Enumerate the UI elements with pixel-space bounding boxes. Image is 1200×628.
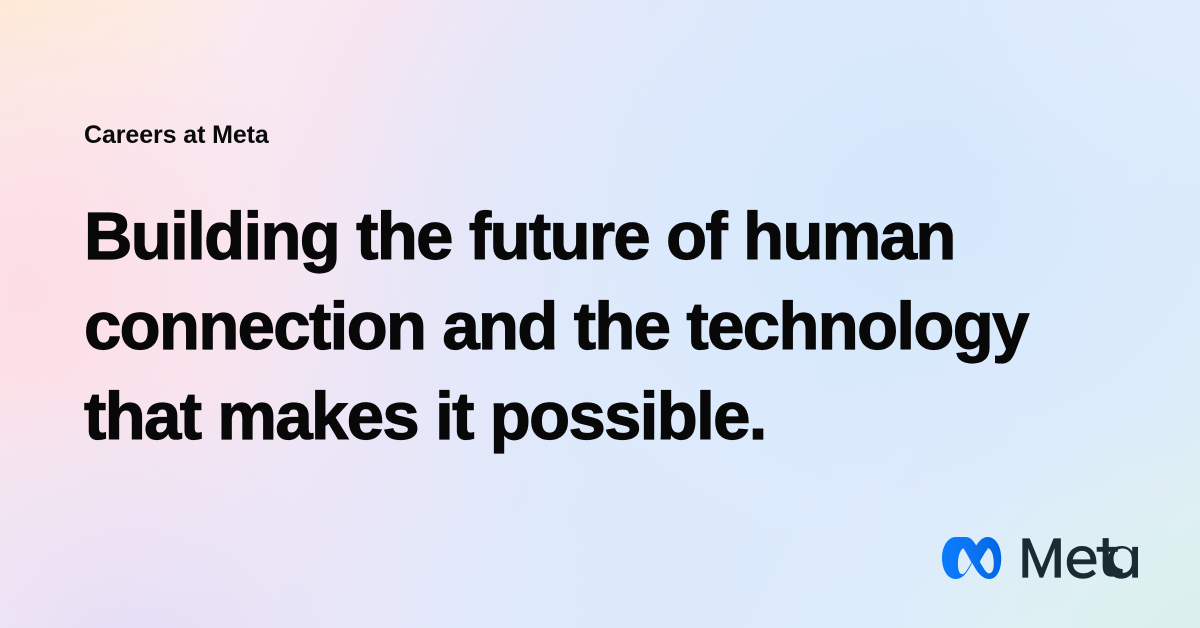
- headline-line-3: that makes it possible.: [84, 372, 1044, 462]
- page-title: Building the future of human connection …: [84, 192, 1044, 462]
- meta-careers-banner: Careers at Meta Building the future of h…: [0, 0, 1200, 628]
- meta-wordmark: [1020, 536, 1138, 580]
- headline-line-2: connection and the technology: [84, 282, 1044, 372]
- headline-line-1: Building the future of human: [84, 192, 1044, 282]
- eyebrow-label: Careers at Meta: [84, 120, 269, 150]
- meta-infinity-icon: [942, 537, 1005, 579]
- meta-logo: [942, 530, 1138, 586]
